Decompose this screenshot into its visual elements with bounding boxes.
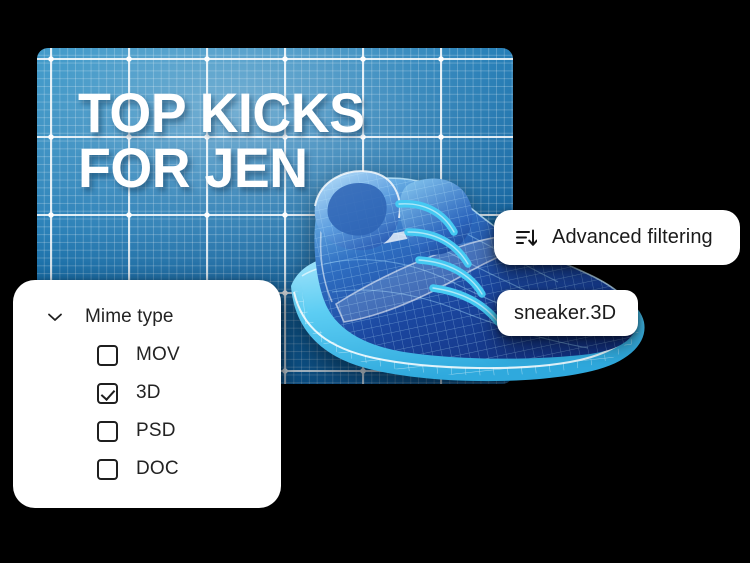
mime-type-options: MOV 3D PSD DOC — [13, 342, 281, 482]
file-name-chip[interactable]: sneaker.3D — [497, 290, 638, 336]
checkbox-mov[interactable] — [97, 345, 118, 366]
headline-line-1: TOP KICKS — [78, 86, 481, 139]
mime-type-title: Mime type — [85, 306, 174, 328]
mime-option-label: DOC — [136, 458, 179, 480]
mime-option-doc[interactable]: DOC — [97, 456, 281, 482]
mime-option-label: MOV — [136, 344, 180, 366]
scene-canvas: TOP KICKS FOR JEN — [0, 0, 750, 563]
sneaker-3d-model — [258, 140, 658, 410]
mime-option-label: 3D — [136, 382, 161, 404]
file-name-label: sneaker.3D — [514, 302, 616, 325]
checkbox-psd[interactable] — [97, 421, 118, 442]
mime-option-label: PSD — [136, 420, 176, 442]
mime-option-3d[interactable]: 3D — [97, 380, 281, 406]
checkbox-3d[interactable] — [97, 383, 118, 404]
advanced-filtering-label: Advanced filtering — [552, 226, 713, 249]
mime-option-psd[interactable]: PSD — [97, 418, 281, 444]
chevron-down-icon[interactable] — [45, 307, 65, 327]
checkbox-doc[interactable] — [97, 459, 118, 480]
mime-option-mov[interactable]: MOV — [97, 342, 281, 368]
advanced-filtering-button[interactable]: Advanced filtering — [494, 210, 740, 265]
mime-type-header[interactable]: Mime type — [13, 280, 281, 328]
mime-type-panel[interactable]: Mime type MOV 3D PSD DOC — [13, 280, 281, 508]
sort-descending-icon — [515, 227, 537, 249]
